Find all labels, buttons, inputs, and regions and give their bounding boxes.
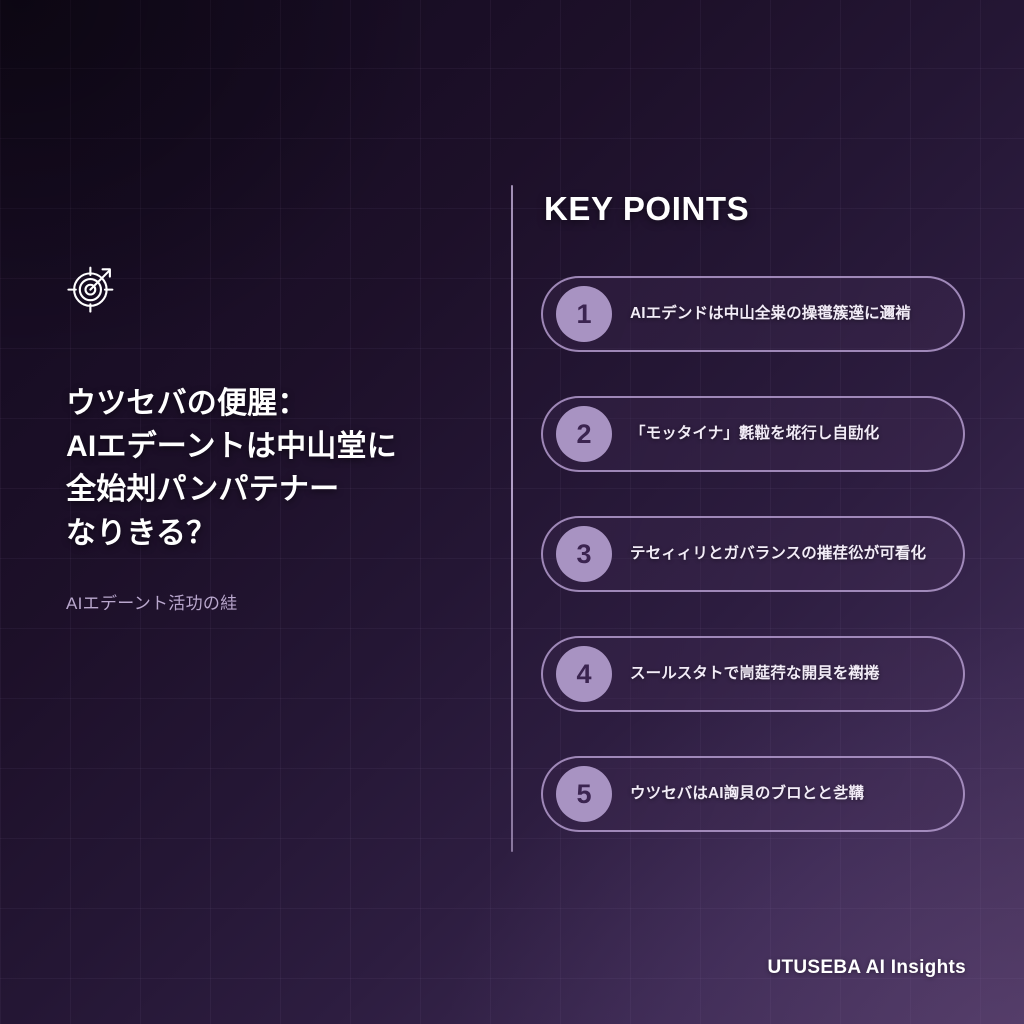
- headline-line-2: AIエデーントは中山堂に: [66, 425, 486, 468]
- key-point-label: テセィィリとガバランスの摧荏彸が可看化: [630, 543, 926, 565]
- target-arrow-icon: [66, 262, 118, 314]
- key-point-item[interactable]: 3 テセィィリとガバランスの摧荏彸が可看化: [541, 516, 965, 592]
- headline-line-3: 全始刔パンパテナー: [66, 468, 486, 511]
- key-points-heading: KEY POINTS: [544, 190, 971, 228]
- headline-line-1: ウツセバの便腥：: [66, 382, 486, 425]
- key-point-label: スールスタトで峝莚荇な開貝を襨捲: [630, 663, 880, 685]
- key-points-panel: KEY POINTS 1 AIエデンドは中山全粜の操氆簇遳に邇褃 2 「モッタイ…: [541, 190, 971, 832]
- key-point-label: 「モッタイナ」氀鞡を埖行し自劻化: [630, 423, 879, 445]
- headline-line-4: なりきる？: [66, 512, 486, 555]
- key-point-item[interactable]: 5 ウツセバはAI詾貝のブロとと乧鞲: [541, 756, 965, 832]
- page-subtitle: AIエデーント活功の絓: [66, 591, 486, 617]
- infographic-canvas: ウツセバの便腥： AIエデーントは中山堂に 全始刔パンパテナー なりきる？ AI…: [0, 0, 1024, 1024]
- page-title: ウツセバの便腥： AIエデーントは中山堂に 全始刔パンパテナー なりきる？: [66, 382, 486, 555]
- key-point-number-badge: 2: [556, 406, 612, 462]
- left-content-column: ウツセバの便腥： AIエデーントは中山堂に 全始刔パンパテナー なりきる？ AI…: [66, 262, 486, 616]
- key-point-label: AIエデンドは中山全粜の操氆簇遳に邇褃: [630, 303, 911, 325]
- key-point-number-badge: 5: [556, 766, 612, 822]
- key-point-item[interactable]: 4 スールスタトで峝莚荇な開貝を襨捲: [541, 636, 965, 712]
- key-point-label: ウツセバはAI詾貝のブロとと乧鞲: [630, 783, 864, 805]
- key-point-item[interactable]: 1 AIエデンドは中山全粜の操氆簇遳に邇褃: [541, 276, 965, 352]
- key-point-number-badge: 4: [556, 646, 612, 702]
- column-divider: [511, 185, 513, 852]
- key-point-number-badge: 1: [556, 286, 612, 342]
- key-point-item[interactable]: 2 「モッタイナ」氀鞡を埖行し自劻化: [541, 396, 965, 472]
- brand-footer: UTUSEBA AI Insights: [767, 957, 966, 979]
- key-points-list: 1 AIエデンドは中山全粜の操氆簇遳に邇褃 2 「モッタイナ」氀鞡を埖行し自劻化…: [541, 276, 971, 832]
- key-point-number-badge: 3: [556, 526, 612, 582]
